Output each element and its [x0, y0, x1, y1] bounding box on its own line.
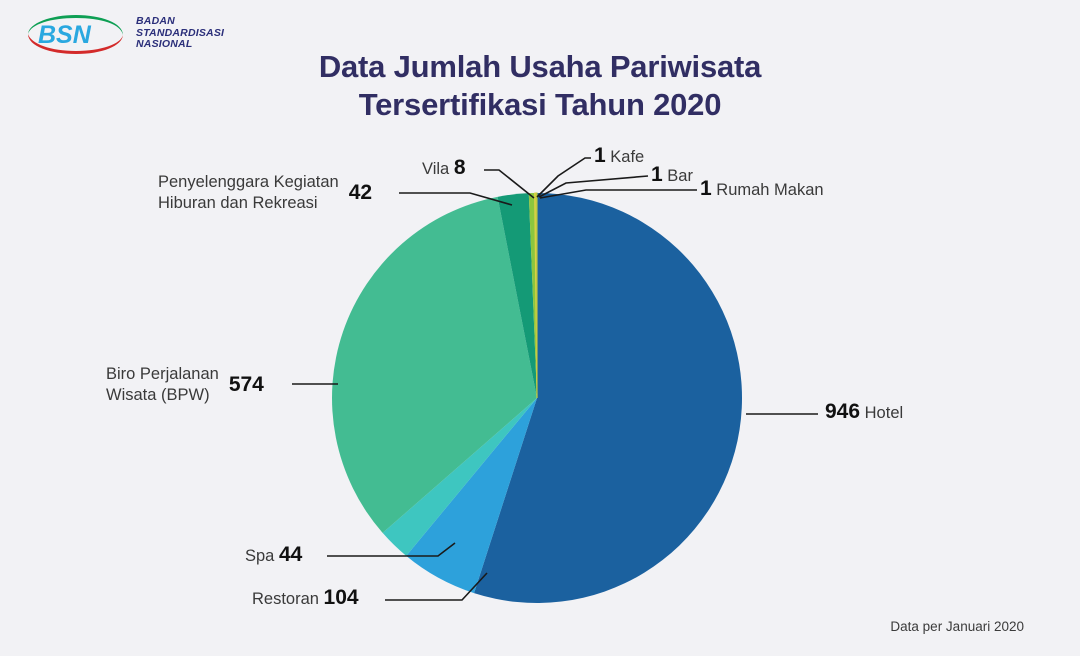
pie-slice-group [332, 193, 742, 603]
callout-spa-name: Spa [245, 547, 274, 565]
callout-bar-value: 1 [651, 163, 663, 186]
callout-restoran: Restoran 104 [252, 588, 359, 609]
callout-hotel-value: 946 [825, 400, 860, 423]
callout-bar-name: Bar [667, 167, 693, 185]
callout-hotel: 946 Hotel [825, 402, 903, 423]
pie-chart [0, 0, 1080, 656]
callout-penyelenggara-name-line-1: Penyelenggara Kegiatan [158, 173, 339, 191]
callout-rumah-makan-value: 1 [700, 177, 712, 200]
callout-penyelenggara-name-line-2: Hiburan dan Rekreasi [158, 194, 318, 212]
callout-bpw-name-line-1: Biro Perjalanan [106, 365, 219, 383]
callout-restoran-value: 104 [324, 586, 359, 609]
callout-hotel-name: Hotel [865, 404, 904, 422]
callout-rumah-makan-name: Rumah Makan [716, 181, 823, 199]
callout-bpw-name-line-2: Wisata (BPW) [106, 386, 210, 404]
callout-kafe: 1 Kafe [594, 146, 644, 167]
callout-vila-value: 8 [454, 156, 466, 179]
chart-page: BSN BADAN STANDARDISASI NASIONAL Data Ju… [0, 0, 1080, 656]
callout-kafe-value: 1 [594, 144, 606, 167]
callout-penyelenggara: Penyelenggara Kegiatan Hiburan dan Rekre… [158, 172, 372, 214]
callout-penyelenggara-value: 42 [349, 181, 372, 204]
callout-kafe-name: Kafe [610, 148, 644, 166]
callout-restoran-name: Restoran [252, 590, 319, 608]
pie-slice-rumah-makan[interactable] [536, 193, 537, 398]
callout-spa-value: 44 [279, 543, 302, 566]
callout-bpw: Biro Perjalanan Wisata (BPW) 574 [106, 364, 264, 406]
callout-rumah-makan: 1 Rumah Makan [700, 179, 824, 200]
callout-bar: 1 Bar [651, 165, 693, 186]
callout-vila: Vila 8 [422, 158, 466, 179]
data-source-note: Data per Januari 2020 [890, 619, 1024, 634]
callout-bpw-value: 574 [229, 373, 264, 396]
callout-vila-name: Vila [422, 160, 449, 178]
callout-spa: Spa 44 [245, 545, 302, 566]
